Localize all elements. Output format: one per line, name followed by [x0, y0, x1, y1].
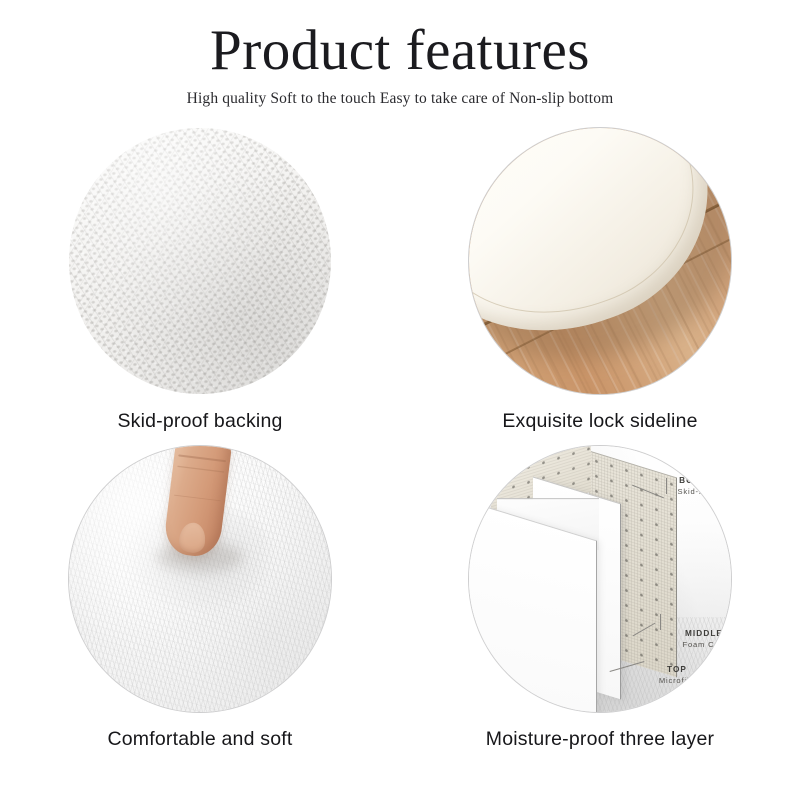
layer-diagram: roducts BOTTOM Skid-Proof MIDDLE Foam Cu… — [469, 446, 731, 712]
page-subtitle: High quality Soft to the touch Easy to t… — [0, 90, 800, 108]
layer-label-middle-material: Foam Cush — [683, 640, 729, 649]
feature-caption: Exquisite lock sideline — [502, 410, 697, 433]
feature-caption: Moisture-proof three layer — [486, 728, 714, 751]
feature-caption: Skid-proof backing — [117, 410, 282, 433]
layer-label-middle-name: MIDDLE — [685, 629, 723, 638]
feature-card-moisture-proof-three-layer: roducts BOTTOM Skid-Proof MIDDLE Foam Cu… — [400, 446, 800, 764]
product-features-page: Product features High quality Soft to th… — [0, 0, 800, 800]
layer-label-bottom-material: Skid-Proof — [678, 487, 721, 496]
feature-card-comfortable-and-soft: Comfortable and soft — [0, 446, 400, 764]
feature-caption: Comfortable and soft — [107, 728, 292, 751]
feature-card-skid-proof-backing: Skid-proof backing — [0, 128, 400, 446]
feature-image-skid-proof-backing — [69, 128, 331, 394]
feature-grid: Skid-proof backing Exquisite lock sideli… — [0, 128, 800, 764]
leader-tick-bottom — [666, 478, 667, 494]
page-title: Product features — [0, 22, 800, 80]
feature-image-moisture-proof-three-layer: roducts BOTTOM Skid-Proof MIDDLE Foam Cu… — [469, 446, 731, 712]
leader-tick-middle — [660, 614, 661, 630]
feature-image-exquisite-lock-sideline — [469, 128, 731, 394]
layer-label-top-name: TOP — [667, 665, 687, 674]
layer-diagram-watermark: roducts — [485, 458, 522, 468]
feature-image-comfortable-and-soft — [69, 446, 331, 712]
feature-card-exquisite-lock-sideline: Exquisite lock sideline — [400, 128, 800, 446]
header: Product features High quality Soft to th… — [0, 0, 800, 108]
layer-label-bottom-name: BOTTOM — [679, 476, 721, 485]
layer-label-top-material: Microfiber S — [659, 676, 709, 685]
mesh-sheen — [69, 128, 331, 394]
